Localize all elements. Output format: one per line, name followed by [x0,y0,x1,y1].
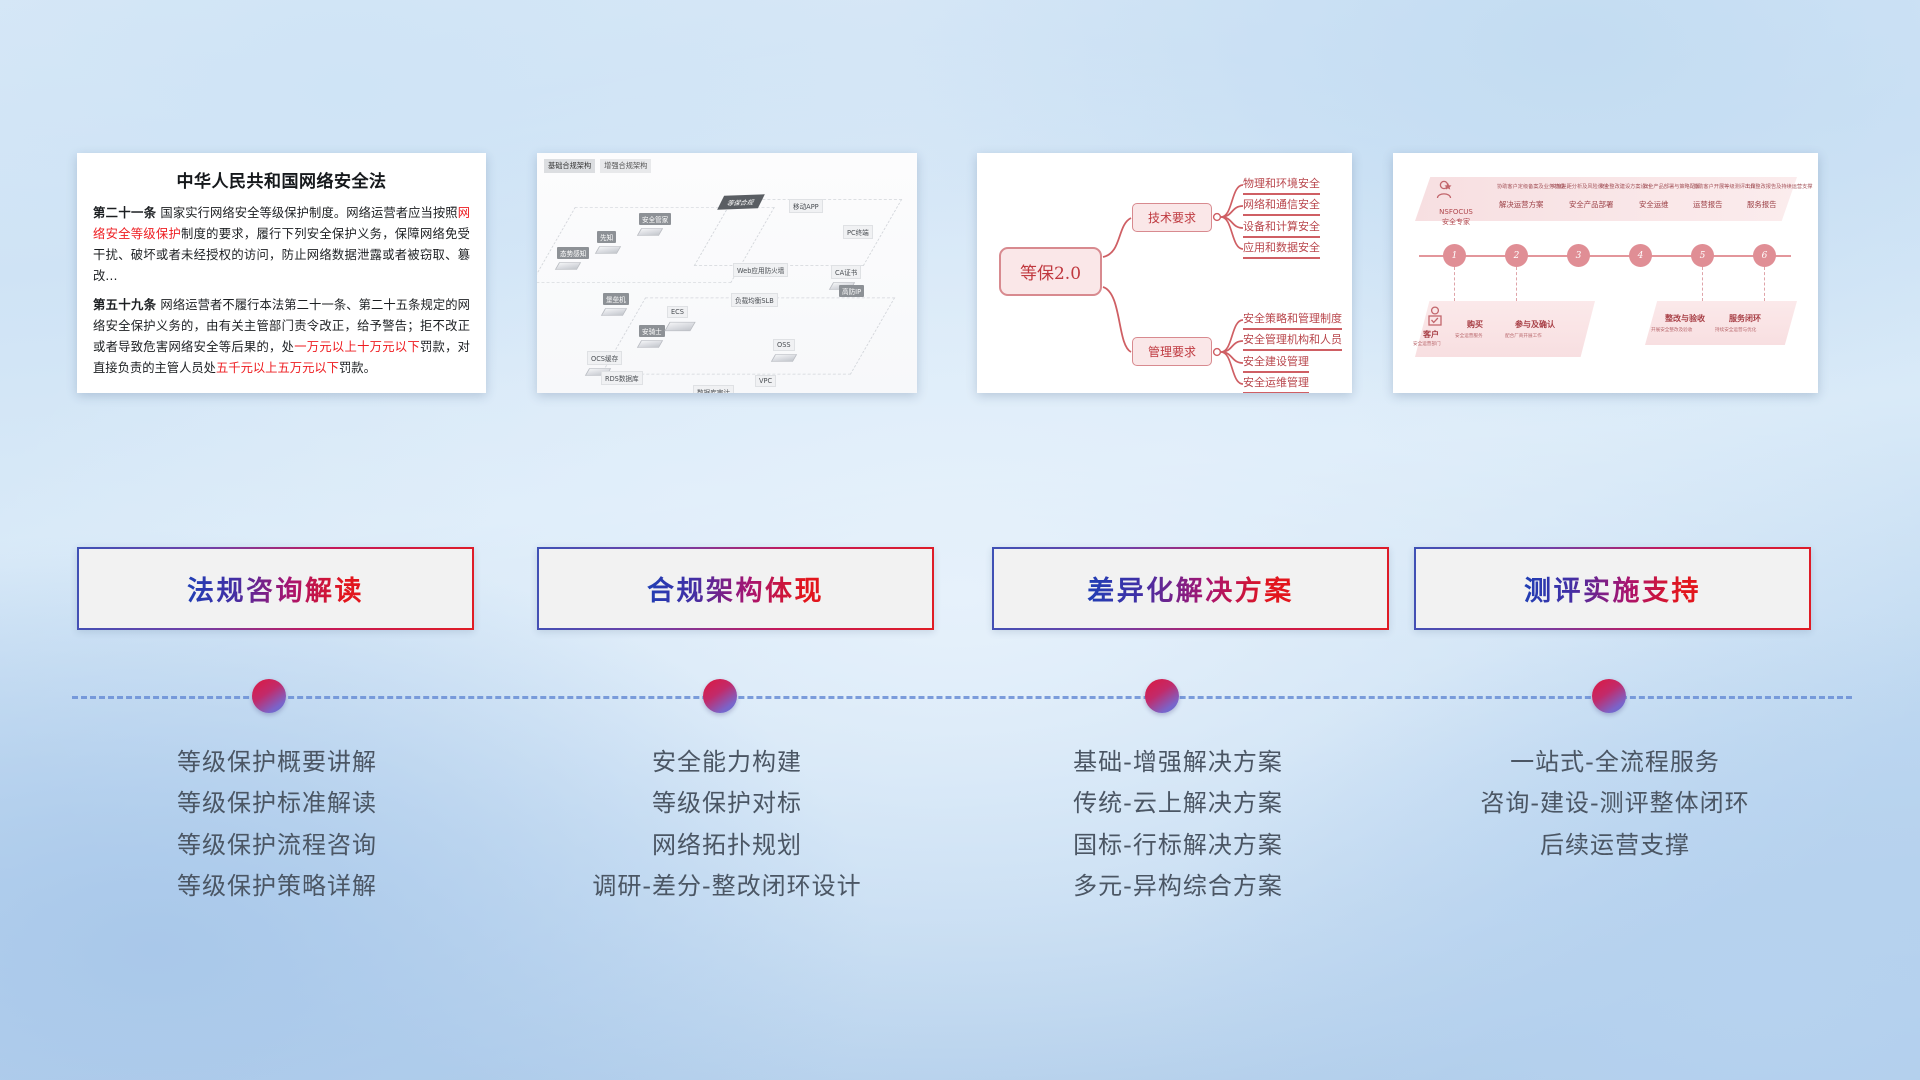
list-item: 网络拓扑规划 [527,825,927,866]
timeline-dashed-line [72,696,1852,699]
list-item: 国标-行标解决方案 [968,825,1388,866]
section-list-4: 一站式-全流程服务 咨询-建设-测评整体闭环 后续运营支撑 [1400,742,1830,866]
list-item: 安全能力构建 [527,742,927,783]
list-item: 一站式-全流程服务 [1400,742,1830,783]
list-item: 等级保护流程咨询 [77,825,477,866]
list-item: 等级保护标准解读 [77,783,477,824]
section-title-1: 法规咨询解读 [187,569,364,608]
list-item: 基础-增强解决方案 [968,742,1388,783]
list-item: 传统-云上解决方案 [968,783,1388,824]
list-item: 等级保护策略详解 [77,866,477,907]
section-title-box-2[interactable]: 合规架构体现 [537,547,934,630]
section-list-2: 安全能力构建 等级保护对标 网络拓扑规划 调研-差分-整改闭环设计 [527,742,927,907]
list-item: 调研-差分-整改闭环设计 [527,866,927,907]
section-title-3: 差异化解决方案 [1087,569,1294,608]
section-title-4: 测评实施支持 [1524,569,1701,608]
timeline-dot-1[interactable] [252,679,286,713]
list-item: 等级保护概要讲解 [77,742,477,783]
section-title-box-4[interactable]: 测评实施支持 [1414,547,1811,630]
section-title-2: 合规架构体现 [647,569,824,608]
list-item: 后续运营支撑 [1400,825,1830,866]
section-titles-row: 法规咨询解读 合规架构体现 差异化解决方案 测评实施支持 等级保护概要讲解 等级… [0,0,1920,1080]
section-title-box-1[interactable]: 法规咨询解读 [77,547,474,630]
list-item: 咨询-建设-测评整体闭环 [1400,783,1830,824]
section-title-box-3[interactable]: 差异化解决方案 [992,547,1389,630]
list-item: 多元-异构综合方案 [968,866,1388,907]
timeline-dot-2[interactable] [703,679,737,713]
timeline-dot-4[interactable] [1592,679,1626,713]
section-list-3: 基础-增强解决方案 传统-云上解决方案 国标-行标解决方案 多元-异构综合方案 [968,742,1388,907]
list-item: 等级保护对标 [527,783,927,824]
timeline-dot-3[interactable] [1145,679,1179,713]
section-list-1: 等级保护概要讲解 等级保护标准解读 等级保护流程咨询 等级保护策略详解 [77,742,477,907]
